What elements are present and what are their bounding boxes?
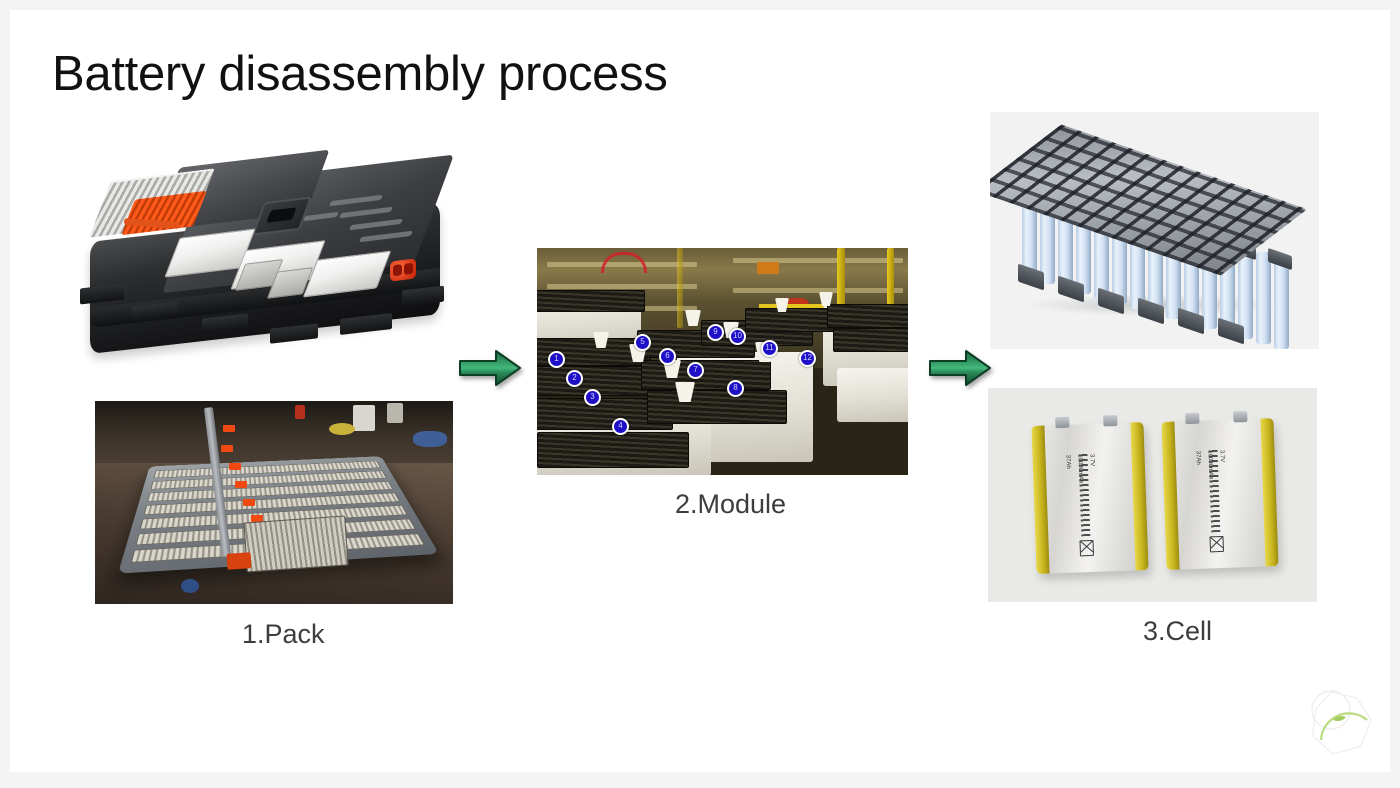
pouch-tape-edge [1130,422,1148,570]
battery-modules-warehouse-photo: 1 2 3 4 5 6 7 8 9 10 11 12 [537,248,908,475]
bus-bar-clip [229,463,241,470]
battery-module [647,390,787,424]
bus-bar-clip [243,499,255,506]
battery-module [537,290,645,312]
module-marker: 2 [566,370,583,387]
pack-rear-module [243,516,348,573]
pouch-cell: 3.7V 10000mAh 37Ah [1031,422,1148,574]
pouch-terminal-tab [1055,417,1069,428]
pouch-tape-edge [1260,418,1278,566]
wheelie-bin-icon [1079,540,1094,556]
pouch-cell: 3.7V 10000mAh 37Ah [1161,418,1278,570]
arrow-right-icon-module-to-cell [928,348,992,388]
cylindrical-cell-module-render [990,112,1319,349]
caption-pack: 1.Pack [242,619,325,650]
module-marker: 12 [799,350,816,367]
module-marker: 10 [729,328,746,345]
pouch-capacity-ah-text: 37Ah [1194,451,1202,519]
warehouse-crate [757,262,779,274]
module-marker: 6 [659,348,676,365]
slide-canvas: Battery disassembly process [10,10,1390,772]
warehouse-rack-post [677,248,683,328]
pouch-tape-edge [1161,422,1179,570]
module-marker: 4 [612,418,629,435]
garage-bucket [353,405,375,431]
caption-module: 2.Module [675,489,786,520]
ev-battery-pack-render-image [72,138,460,370]
module-marker: 8 [727,380,744,397]
cell-module-body [1018,152,1290,307]
bus-bar-clip [235,481,247,488]
battery-module [833,328,908,352]
garage-hose [329,423,355,435]
pack-connector-orange [226,552,251,570]
garage-bottle [295,405,305,419]
pack-caster [181,579,199,593]
module-marker: 1 [548,351,565,368]
module-marker: 3 [584,389,601,406]
leaf-polygon-logo [1305,686,1383,760]
garage-bucket [387,403,403,423]
arrow-right-icon-pack-to-module [458,348,522,388]
wheelie-bin-icon [1209,536,1224,552]
pouch-voltage-text: 3.7V [1088,454,1096,522]
battery-module [537,432,689,468]
cylindrical-cell [1256,252,1271,344]
module-marker: 11 [761,340,778,357]
warehouse-shelf [733,288,903,293]
battery-module [827,304,908,328]
caption-cell: 3.Cell [1143,616,1212,647]
battery-module [641,360,771,390]
pouch-voltage-text: 3.7V [1218,450,1226,518]
bus-bar-clip [223,425,235,432]
module-marker: 9 [707,324,724,341]
module-marker: 5 [634,334,651,351]
module-marker: 7 [687,362,704,379]
pouch-cells-photo: 3.7V 10000mAh 37Ah 3.7V 10000mAh 37Ah [988,388,1317,602]
module-pallet [837,368,908,422]
pouch-terminal-tab [1103,415,1117,426]
warehouse-shelf [547,284,697,289]
bus-bar-clip [221,445,233,452]
cylindrical-cell [1274,257,1289,349]
pouch-terminal-tab [1233,411,1247,422]
pouch-capacity-ah-text: 37Ah [1064,455,1072,523]
page-title: Battery disassembly process [52,48,668,102]
pack-hv-connector [390,258,416,281]
pouch-tape-edge [1031,426,1049,574]
garage-tool-bag [413,431,447,447]
pouch-terminal-tab [1185,413,1199,424]
opened-battery-pack-photo [95,401,453,604]
